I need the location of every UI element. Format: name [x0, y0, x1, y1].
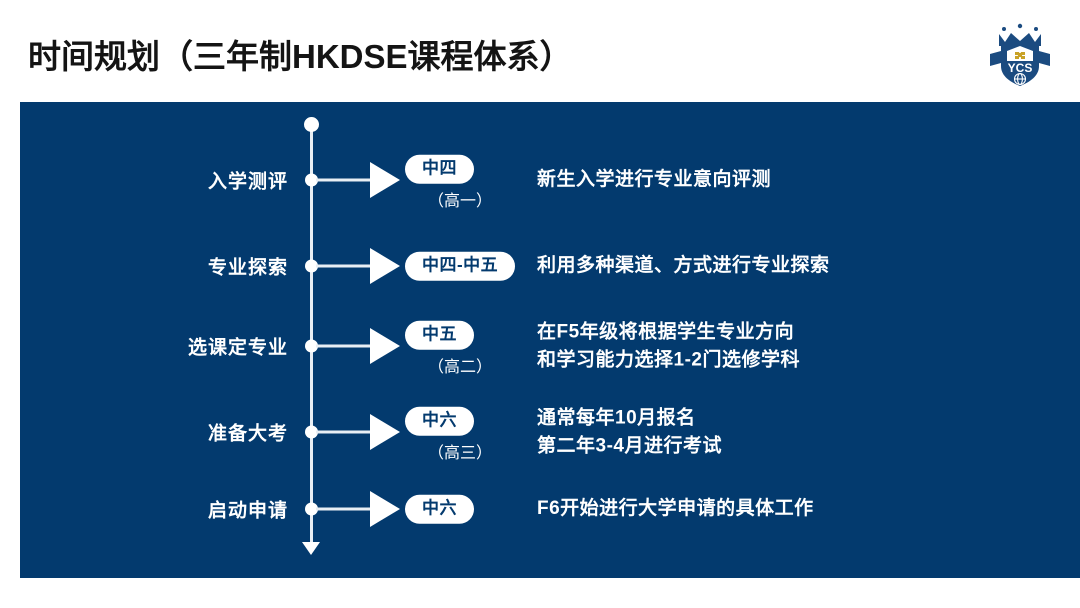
arrow-right-icon — [370, 328, 400, 364]
timeline-description-line: 通常每年10月报名 — [537, 404, 722, 432]
arrow-right-icon — [370, 248, 400, 284]
page-title: 时间规划（三年制HKDSE课程体系） — [28, 30, 573, 78]
logo-text: YCS — [1008, 61, 1033, 75]
timeline-row-label: 入学测评 — [28, 167, 288, 194]
timeline-connector-line — [316, 265, 372, 268]
timeline-row-description: 利用多种渠道、方式进行专业探索 — [537, 252, 830, 280]
timeline-stage-pill: 中六 — [405, 407, 474, 436]
timeline-axis-line — [310, 123, 313, 548]
timeline-description-line: 新生入学进行专业意向评测 — [537, 166, 771, 194]
timeline-start-dot — [304, 117, 319, 132]
timeline-connector-line — [316, 345, 372, 348]
timeline-connector-line — [316, 431, 372, 434]
timeline-panel: 入学测评 中四 （高一） 新生入学进行专业意向评测 专业探索 中四-中五 利用多… — [20, 102, 1080, 578]
timeline-description-line: 利用多种渠道、方式进行专业探索 — [537, 252, 830, 280]
timeline-row-label: 专业探索 — [28, 253, 288, 280]
timeline-row-label: 准备大考 — [28, 419, 288, 446]
timeline-description-line: 第二年3-4月进行考试 — [537, 432, 722, 460]
timeline-stage-sublabel: （高二） — [405, 353, 515, 377]
timeline-description-line: 和学习能力选择1-2门选修学科 — [537, 346, 800, 374]
timeline-end-arrow-icon — [302, 542, 320, 555]
timeline-stage-sublabel: （高三） — [405, 439, 515, 463]
arrow-right-icon — [370, 491, 400, 527]
timeline-stage-pill: 中四-中五 — [405, 252, 515, 281]
timeline-stage-sublabel: （高一） — [405, 187, 515, 211]
timeline-row-description: 在F5年级将根据学生专业方向 和学习能力选择1-2门选修学科 — [537, 318, 800, 373]
timeline-row-description: F6开始进行大学申请的具体工作 — [537, 495, 814, 523]
timeline-description-line: 在F5年级将根据学生专业方向 — [537, 318, 800, 346]
timeline-description-line: F6开始进行大学申请的具体工作 — [537, 495, 814, 523]
timeline-row-label: 选课定专业 — [28, 333, 288, 360]
brand-logo-ycs: YCS — [988, 20, 1052, 90]
timeline-row-description: 通常每年10月报名 第二年3-4月进行考试 — [537, 404, 722, 459]
timeline-connector-line — [316, 179, 372, 182]
arrow-right-icon — [370, 414, 400, 450]
timeline-stage-pill: 中六 — [405, 495, 474, 524]
timeline-stage-pill: 中五 — [405, 321, 474, 350]
timeline-connector-line — [316, 508, 372, 511]
arrow-right-icon — [370, 162, 400, 198]
timeline-row-label: 启动申请 — [28, 496, 288, 523]
timeline-stage-pill: 中四 — [405, 155, 474, 184]
timeline-row-description: 新生入学进行专业意向评测 — [537, 166, 771, 194]
